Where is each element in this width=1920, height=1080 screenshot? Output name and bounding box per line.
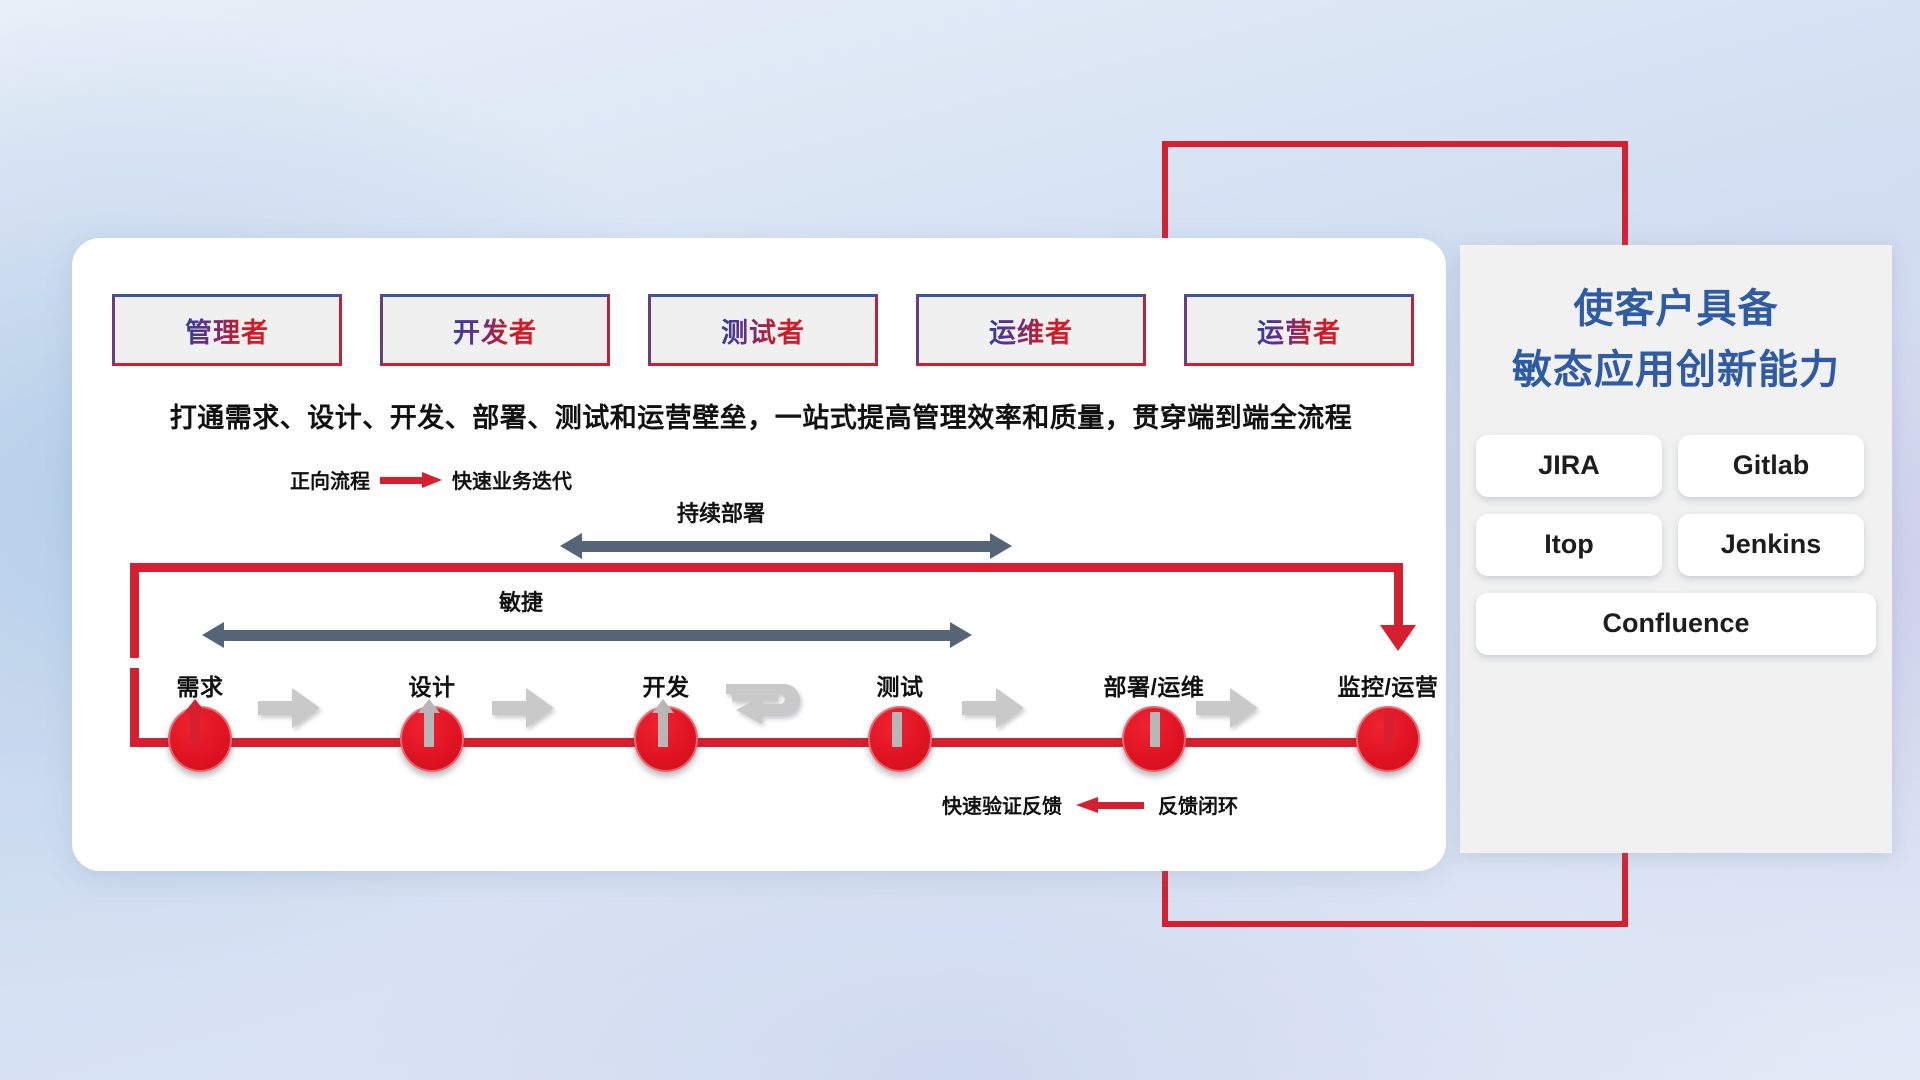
loop-rail-left [130, 563, 139, 658]
arrow-head-left-icon [202, 622, 224, 648]
feedback-loop-legend: 快速验证反馈 反馈闭环 [942, 790, 1238, 819]
stage-label: 设计 [372, 668, 492, 702]
role-chip-label: 管理者 [185, 311, 269, 350]
forward-flow-label-right: 快速业务迭代 [452, 465, 572, 494]
chevron-arrow-icon [258, 688, 320, 728]
stage-requirements[interactable]: 需求 [140, 668, 260, 772]
role-chip-tester[interactable]: 测试者 [648, 294, 878, 366]
chevron-arrow-icon [962, 688, 1024, 728]
span-label-agile: 敏捷 [499, 585, 543, 617]
feedback-label-right: 反馈闭环 [1158, 790, 1238, 819]
tool-label: Gitlab [1733, 450, 1810, 481]
tool-itop[interactable]: Itop [1476, 514, 1662, 576]
loop-rail-right-arrowhead [1380, 625, 1416, 651]
rail-tick-testing [892, 712, 902, 747]
tool-confluence[interactable]: Confluence [1476, 593, 1876, 655]
arrow-head-left-icon [560, 533, 582, 559]
role-chip-ops[interactable]: 运维者 [916, 294, 1146, 366]
right-panel-title-line2: 敏态应用创新能力 [1460, 340, 1892, 401]
tool-label: Jenkins [1721, 529, 1822, 560]
role-chip-manager[interactable]: 管理者 [112, 294, 342, 366]
arrow-right-red-icon [380, 472, 442, 488]
stage-label: 需求 [140, 668, 260, 702]
chevron-arrow-icon [1196, 688, 1258, 728]
tool-jira[interactable]: JIRA [1476, 435, 1662, 497]
chevron-arrow-icon [492, 688, 554, 728]
description-text: 打通需求、设计、开发、部署、测试和运营壁垒，一站式提高管理效率和质量，贯穿端到端… [116, 396, 1406, 435]
role-chip-label: 测试者 [721, 311, 805, 350]
tool-label: JIRA [1538, 450, 1600, 481]
arrow-left-red-icon [1076, 797, 1144, 813]
right-side-panel: 使客户具备 敏态应用创新能力 JIRA Gitlab Itop Jenkins … [1460, 245, 1892, 853]
tool-jenkins[interactable]: Jenkins [1678, 514, 1864, 576]
tool-label: Confluence [1602, 608, 1749, 639]
role-chip-label: 运营者 [1257, 311, 1341, 350]
forward-flow-legend: 正向流程 快速业务迭代 [290, 465, 572, 494]
loop-rail-top [130, 563, 1403, 572]
loop-rail-right [1394, 563, 1403, 625]
role-chip-developer[interactable]: 开发者 [380, 294, 610, 366]
loop-rail-left-lower [130, 668, 139, 747]
stage-label: 开发 [606, 668, 726, 702]
rail-tick-requirements [190, 712, 200, 747]
rail-tick-design [424, 712, 434, 747]
stage-label: 监控/运营 [1308, 668, 1468, 702]
main-card: 管理者 开发者 测试者 运维者 运营者 打通需求、设计、开发、部署、测试和运营壁… [72, 238, 1446, 871]
arrow-bar [222, 630, 952, 641]
stage-label: 测试 [840, 668, 960, 702]
arrow-head-right-icon [950, 622, 972, 648]
span-label-continuous-deployment: 持续部署 [677, 496, 765, 528]
tool-label: Itop [1544, 529, 1593, 560]
arrow-head-right-icon [990, 533, 1012, 559]
forward-flow-label-left: 正向流程 [290, 465, 370, 494]
arrow-bar [580, 541, 992, 552]
stage-dot [168, 706, 232, 772]
double-arrow-continuous-deployment [560, 533, 1012, 559]
rail-tick-deploy [1150, 712, 1160, 747]
iteration-loop-icon [722, 676, 818, 738]
role-chip-row: 管理者 开发者 测试者 运维者 运营者 [112, 294, 1414, 366]
tool-gitlab[interactable]: Gitlab [1678, 435, 1864, 497]
feedback-label-left: 快速验证反馈 [942, 790, 1062, 819]
right-panel-title: 使客户具备 敏态应用创新能力 [1460, 279, 1892, 401]
role-chip-operations[interactable]: 运营者 [1184, 294, 1414, 366]
rail-tick-development [658, 712, 668, 747]
right-panel-title-line1: 使客户具备 [1460, 279, 1892, 340]
rail-tick-monitor [1384, 712, 1394, 747]
role-chip-label: 开发者 [453, 311, 537, 350]
role-chip-label: 运维者 [989, 311, 1073, 350]
tool-list: JIRA Gitlab Itop Jenkins Confluence [1460, 435, 1892, 655]
double-arrow-agile [202, 622, 972, 648]
